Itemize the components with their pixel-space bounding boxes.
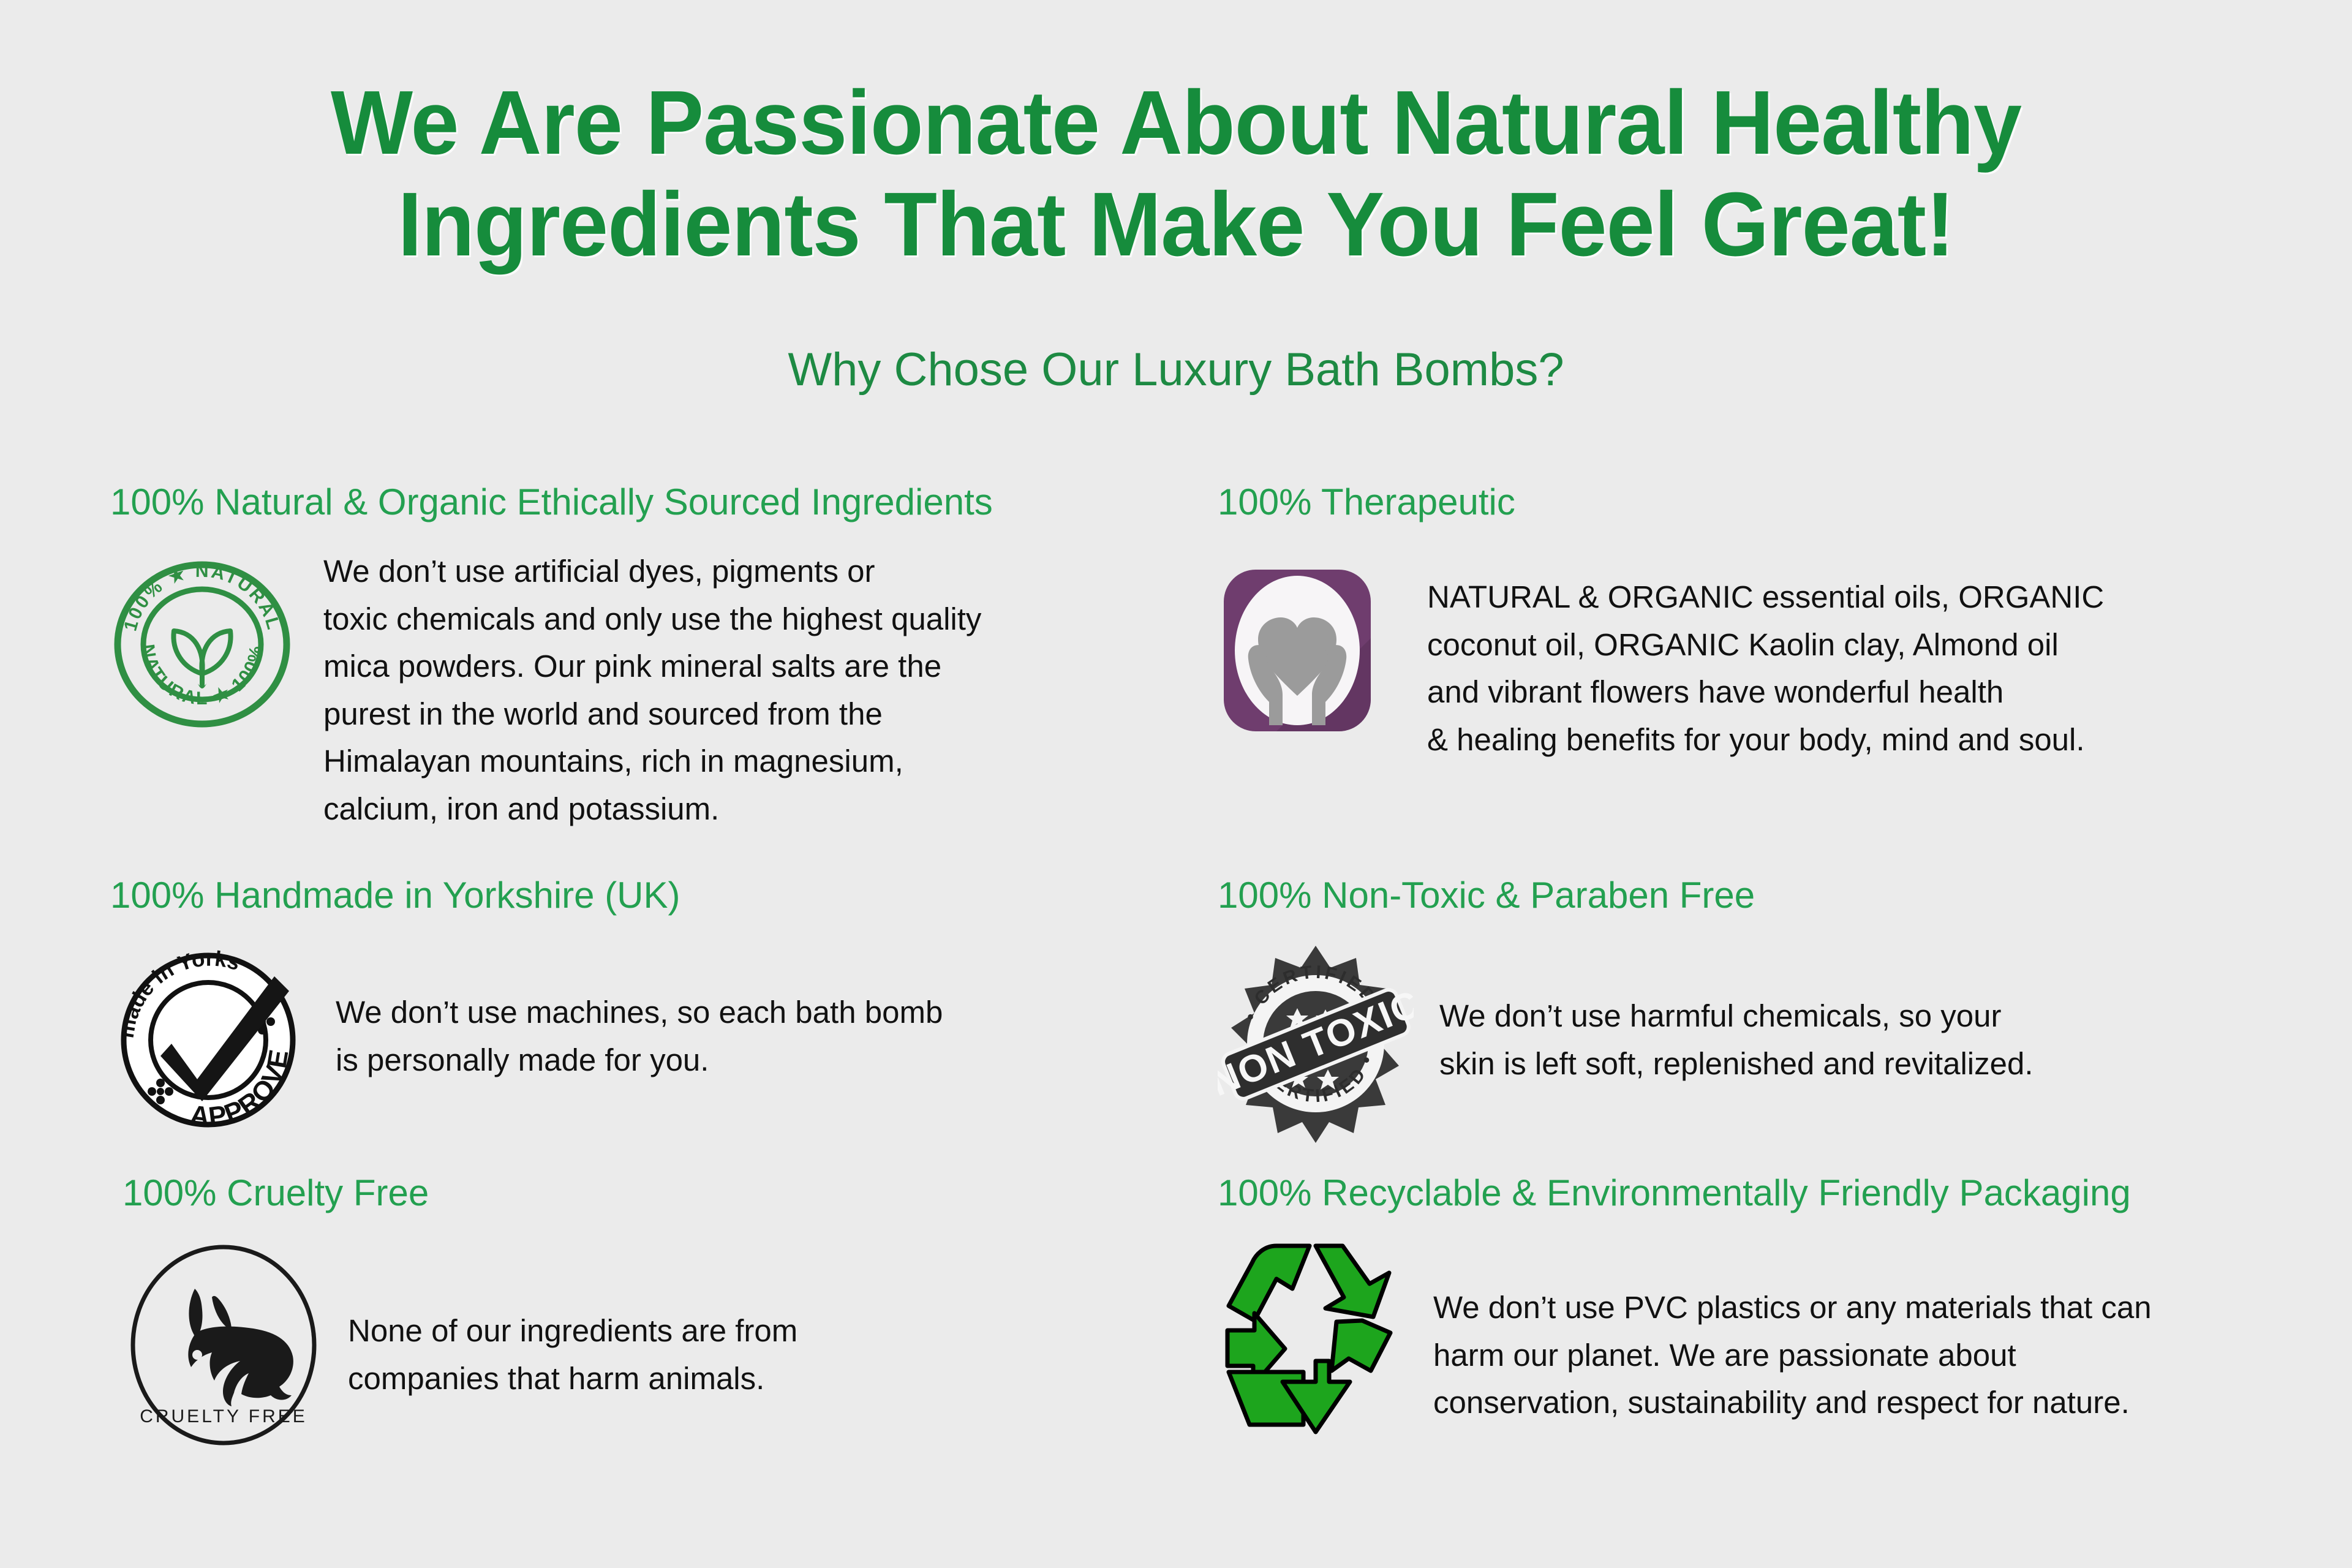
- page-title-line-1: We Are Passionate About Natural Healthy: [47, 72, 2305, 174]
- cruelty-free-rabbit-icon: CRUELTY FREE: [123, 1241, 325, 1449]
- yorkshire-approved-stamp-icon: made in Yorkshire APPROVED: [110, 941, 306, 1137]
- page-title-line-2: Ingredients That Make You Feel Great!: [47, 174, 2305, 276]
- feature-block-cruelty: 100% Cruelty Free CRUELTY FREE None of o…: [123, 1175, 797, 1449]
- feature-heading-nontoxic: 100% Non-Toxic & Paraben Free: [1218, 877, 2034, 914]
- feature-body-handmade: We don’t use machines, so each bath bomb…: [336, 989, 943, 1084]
- feature-block-natural: 100% Natural & Organic Ethically Sourced…: [110, 484, 993, 832]
- feature-body-cruelty: None of our ingredients are from compani…: [348, 1307, 797, 1402]
- feature-body-nontoxic: We don’t use harmful chemicals, so your …: [1439, 992, 2034, 1087]
- feature-block-recycle: 100% Recyclable & Environmentally Friend…: [1218, 1175, 2152, 1437]
- certified-non-toxic-badge-icon: • CERTIFIED • • CERTIFIED • NON TOXIC: [1218, 941, 1414, 1143]
- feature-heading-cruelty: 100% Cruelty Free: [123, 1175, 797, 1212]
- feature-heading-therapeutic: 100% Therapeutic: [1218, 484, 2104, 521]
- feature-block-handmade: 100% Handmade in Yorkshire (UK) made in …: [110, 877, 943, 1137]
- infographic-page: We Are Passionate About Natural Healthy …: [0, 0, 2352, 1568]
- feature-block-therapeutic: 100% Therapeutic NATURAL & ORGANIC essen…: [1218, 484, 2104, 763]
- page-title: We Are Passionate About Natural Healthy …: [47, 72, 2305, 276]
- page-subtitle: Why Chose Our Luxury Bath Bombs?: [0, 343, 2352, 396]
- feature-body-natural: We don’t use artificial dyes, pigments o…: [323, 548, 981, 832]
- recycle-symbol-icon: [1218, 1241, 1401, 1437]
- svg-text:100% ★ NATURAL: 100% ★ NATURAL: [120, 561, 284, 633]
- feature-body-recycle: We don’t use PVC plastics or any materia…: [1433, 1284, 2152, 1427]
- heart-in-hands-icon: [1218, 565, 1383, 742]
- feature-heading-recycle: 100% Recyclable & Environmentally Friend…: [1218, 1175, 2152, 1212]
- cruelty-free-caption: CRUELTY FREE: [140, 1406, 307, 1427]
- feature-block-nontoxic: 100% Non-Toxic & Paraben Free • CE: [1218, 877, 2034, 1143]
- feature-body-therapeutic: NATURAL & ORGANIC essential oils, ORGANI…: [1427, 573, 2104, 763]
- feature-heading-natural: 100% Natural & Organic Ethically Sourced…: [110, 484, 993, 521]
- feature-heading-handmade: 100% Handmade in Yorkshire (UK): [110, 877, 943, 914]
- natural-stamp-icon: 100% ★ NATURAL NATURAL ★ 100%: [110, 552, 294, 736]
